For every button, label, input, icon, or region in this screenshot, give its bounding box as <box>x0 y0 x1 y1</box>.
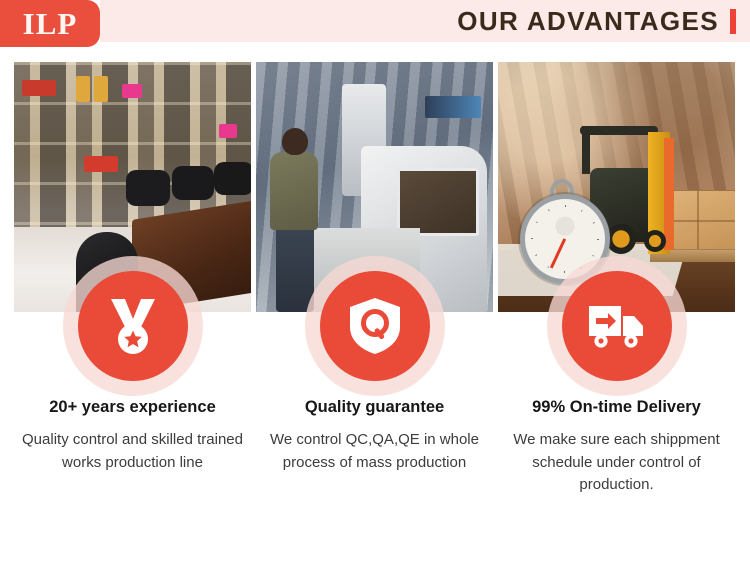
card-description: We make sure each shippment schedule und… <box>498 429 735 497</box>
card-photo-wrap <box>498 62 735 312</box>
card-text-block: 99% On-time Delivery We make sure each s… <box>498 398 735 497</box>
photo-shelf-item <box>219 124 237 138</box>
photo-forklift-roof <box>580 126 658 135</box>
card-title: 20+ years experience <box>14 398 251 418</box>
photo-chair <box>126 170 170 206</box>
page-header: ILP OUR ADVANTAGES <box>0 0 750 56</box>
card-text-block: 20+ years experience Quality control and… <box>14 398 251 474</box>
card-title: 99% On-time Delivery <box>498 398 735 418</box>
card-description: Quality control and skilled trained work… <box>14 429 251 475</box>
card-photo-wrap <box>256 62 493 312</box>
photo-worker-legs <box>276 226 314 312</box>
advantage-card: 20+ years experience Quality control and… <box>14 62 251 497</box>
photo-forklift-wheel <box>644 230 666 252</box>
photo-shelf-item <box>122 84 142 98</box>
card-text-block: Quality guarantee We control QC,QA,QE in… <box>256 398 493 474</box>
logo-text: ILP <box>23 8 78 39</box>
photo-chair <box>172 166 214 200</box>
photo-chair <box>214 162 251 195</box>
header-title-group: OUR ADVANTAGES <box>457 0 736 42</box>
photo-worker-head <box>282 128 308 155</box>
title-accent-bar <box>730 9 736 34</box>
page-title: OUR ADVANTAGES <box>457 8 719 34</box>
advantage-card: Quality guarantee We control QC,QA,QE in… <box>256 62 493 497</box>
shield-q-icon <box>320 271 430 381</box>
photo-shelf-item <box>84 156 118 172</box>
card-description: We control QC,QA,QE in whole process of … <box>256 429 493 475</box>
advantage-card: 99% On-time Delivery We make sure each s… <box>498 62 735 497</box>
photo-shelf-item <box>22 80 56 96</box>
photo-shelf-item <box>76 76 90 102</box>
card-title: Quality guarantee <box>256 398 493 418</box>
medal-icon <box>78 271 188 381</box>
photo-worker-body <box>270 152 318 230</box>
advantages-card-row: 20+ years experience Quality control and… <box>14 62 736 497</box>
photo-forklift-mast-inner <box>664 138 674 250</box>
card-photo-wrap <box>14 62 251 312</box>
logo-block[interactable]: ILP <box>0 0 100 47</box>
photo-shelf-item <box>94 76 108 102</box>
photo-forklift-post <box>582 126 590 174</box>
photo-forklift-wheel <box>606 224 636 254</box>
photo-overhead-screen <box>425 96 481 118</box>
delivery-truck-icon <box>562 271 672 381</box>
photo-monitor <box>397 168 479 236</box>
